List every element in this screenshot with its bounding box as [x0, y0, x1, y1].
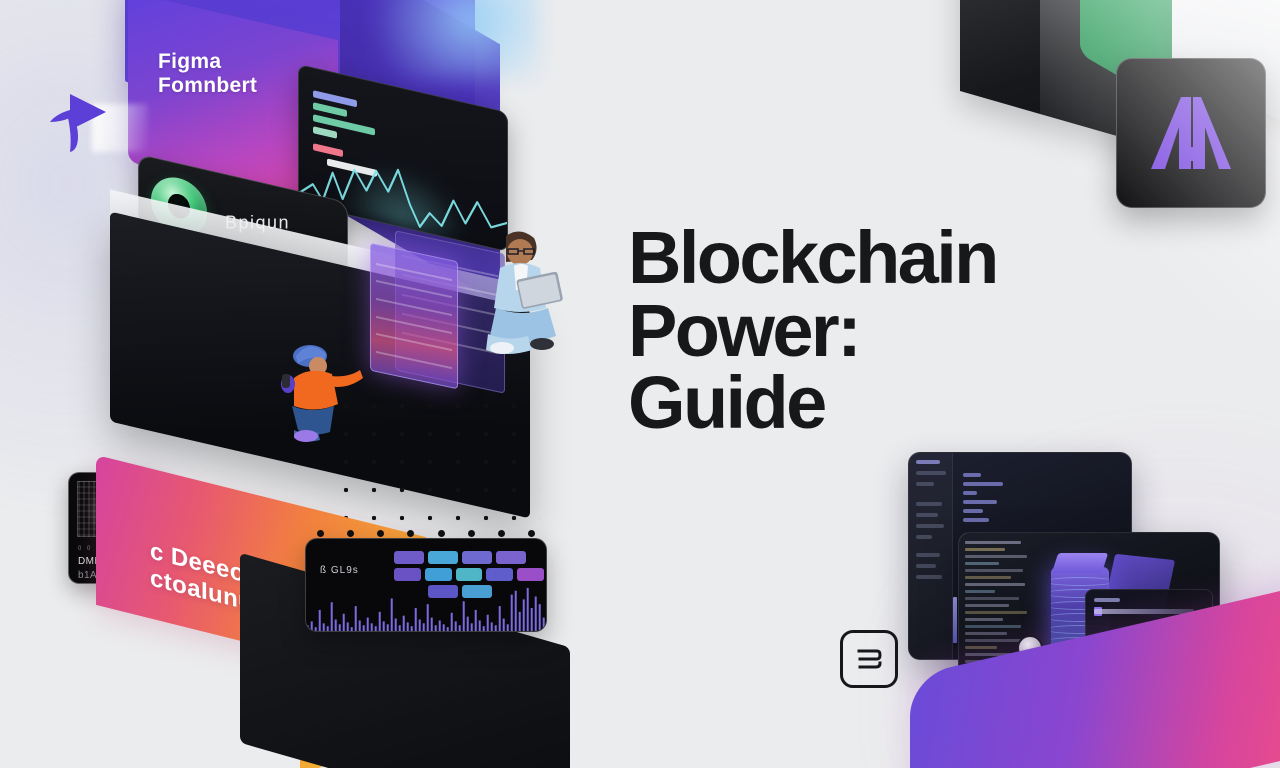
- spike-chart-label: ß GL9s: [320, 565, 359, 576]
- purple-ribbon-glow: [370, 0, 540, 80]
- dot-grid-pattern: [328, 388, 540, 538]
- person-with-tablet: [470, 222, 570, 362]
- top-right-vignette: [1040, 0, 1280, 320]
- dashboard-sidebar: [909, 453, 953, 659]
- purple-arrow-mark-icon: [46, 86, 112, 160]
- glass-panel-front: [370, 243, 458, 390]
- glass-front-lines: [371, 244, 457, 388]
- tile-row-2: [394, 568, 544, 581]
- headline-line-1: Blockchain: [628, 222, 1098, 295]
- stylized-e-glyph-icon: [856, 647, 882, 671]
- spike-chart-card: ß GL9s: [305, 538, 547, 632]
- page-title: Blockchain Power: Guide: [628, 222, 1098, 440]
- figma-card-text: Figma Fomnbert: [158, 50, 257, 97]
- figma-card-line2: Fomnbert: [158, 74, 257, 98]
- spike-chart-bars: [306, 585, 546, 631]
- figma-card-line1: Figma: [158, 50, 257, 74]
- mini-card-title-bar: [1094, 598, 1120, 602]
- dashboard-legend: [963, 473, 1003, 527]
- headline-line-3: Guide: [628, 367, 1098, 440]
- bar-4: [313, 126, 337, 139]
- headline-line-2: Power:: [628, 295, 1098, 368]
- tile-row-1: [394, 551, 544, 564]
- stylized-e-badge[interactable]: [840, 630, 898, 688]
- poster-canvas: Figma Fomnbert Bpiqun: [0, 0, 1280, 768]
